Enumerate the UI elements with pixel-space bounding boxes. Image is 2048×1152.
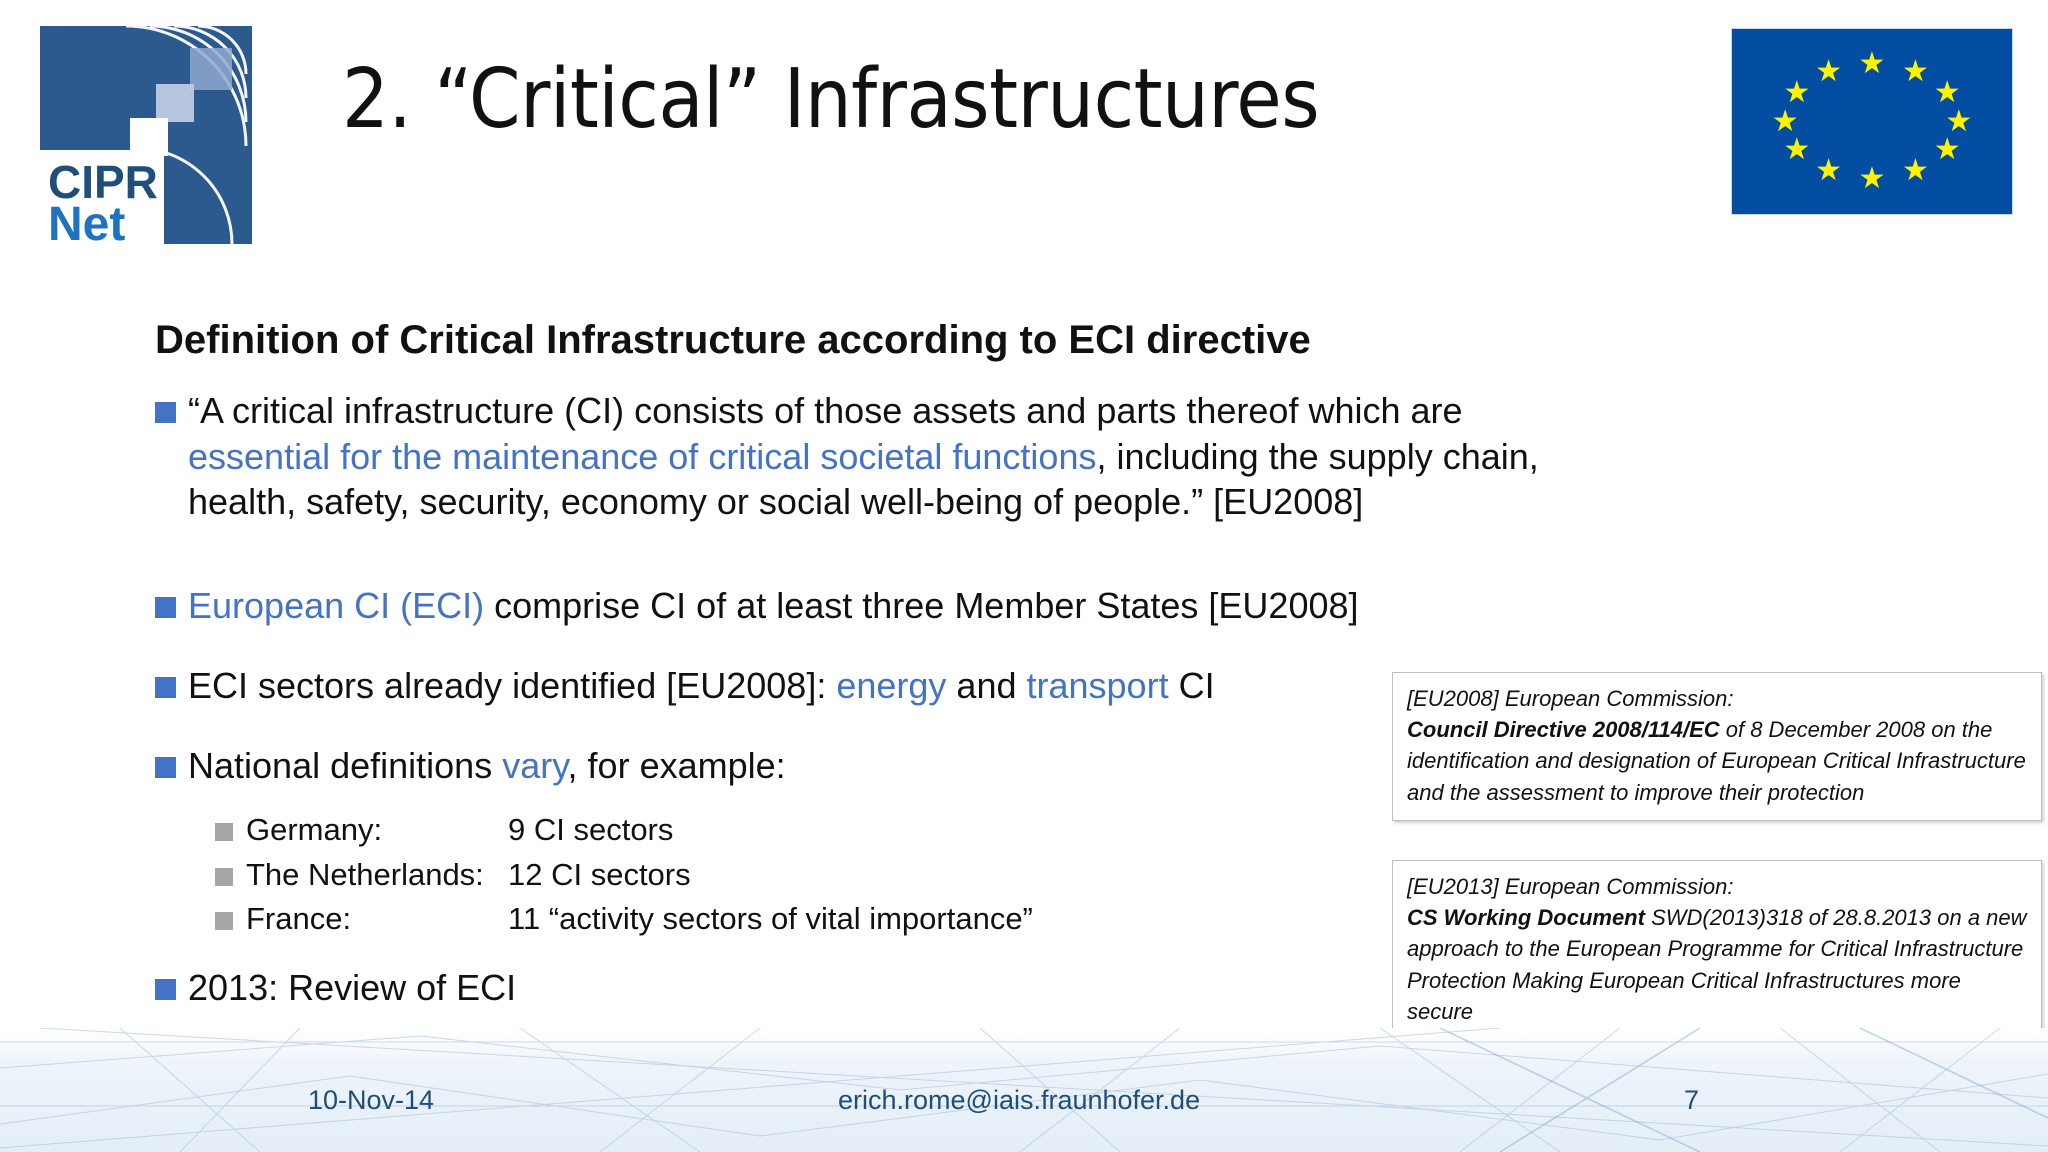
- ciprnet-logo: CIPR Net: [40, 26, 252, 244]
- sub-bullet-square-icon: [215, 868, 233, 886]
- footer-page-number: 7: [1684, 1085, 1699, 1116]
- slide-body: “A critical infrastructure (CI) consists…: [155, 388, 1595, 1011]
- bullet-sectors: ECI sectors already identified [EU2008]:…: [155, 663, 1595, 709]
- slide: CIPR Net ★★★★★★★★★★★★ 2. “Critical” Infr…: [0, 0, 2048, 1152]
- list-item: Germany:9 CI sectors: [215, 810, 1595, 850]
- eu-star-icon: ★: [1859, 49, 1886, 79]
- citation-box-eu2013: [EU2013] European Commission: CS Working…: [1392, 860, 2042, 1040]
- citation-line1: [EU2008] European Commission:: [1407, 686, 1734, 711]
- bullet-eci: European CI (ECI) comprise CI of at leas…: [155, 583, 1595, 629]
- footer-email: erich.rome@iais.fraunhofer.de: [838, 1085, 1200, 1116]
- bullet-national-text: National definitions vary, for example:: [188, 743, 786, 789]
- bullet-review-text: 2013: Review of ECI: [188, 965, 516, 1011]
- eci-highlight: European CI (ECI): [188, 585, 484, 626]
- sectors-part2: CI: [1169, 665, 1215, 706]
- citation-line1: [EU2013] European Commission:: [1407, 874, 1734, 899]
- country-value: 11 “activity sectors of vital importance…: [508, 899, 1033, 939]
- sub-bullet-square-icon: [215, 912, 233, 930]
- bullet-national: National definitions vary, for example:: [155, 743, 1595, 789]
- eu-star-icon: ★: [1859, 164, 1886, 194]
- eu-star-icon: ★: [1815, 57, 1842, 87]
- country-row: Germany:9 CI sectors: [246, 810, 673, 850]
- country-list: Germany:9 CI sectors The Netherlands:12 …: [215, 810, 1595, 939]
- country-value: 12 CI sectors: [508, 855, 691, 895]
- bullet-square-icon: [155, 979, 176, 1000]
- national-part2: , for example:: [568, 745, 786, 786]
- national-part1: National definitions: [188, 745, 502, 786]
- logo-text-net: Net: [48, 198, 125, 244]
- country-name: The Netherlands:: [246, 855, 508, 895]
- eci-rest: comprise CI of at least three Member Sta…: [484, 585, 1358, 626]
- bullet-quote-text: “A critical infrastructure (CI) consists…: [188, 388, 1595, 525]
- country-name: France:: [246, 899, 508, 939]
- eu-star-icon: ★: [1902, 156, 1929, 186]
- section-heading: Definition of Critical Infrastructure ac…: [155, 318, 1311, 363]
- eu-star-icon: ★: [1783, 78, 1810, 108]
- sectors-highlight-transport: transport: [1027, 665, 1169, 706]
- bullet-sectors-text: ECI sectors already identified [EU2008]:…: [188, 663, 1215, 709]
- quote-part1: “A critical infrastructure (CI) consists…: [188, 390, 1463, 431]
- bullet-square-icon: [155, 757, 176, 778]
- country-name: Germany:: [246, 810, 508, 850]
- sectors-part1: ECI sectors already identified [EU2008]:: [188, 665, 836, 706]
- eu-star-icon: ★: [1815, 156, 1842, 186]
- bullet-eci-text: European CI (ECI) comprise CI of at leas…: [188, 583, 1359, 629]
- list-item: The Netherlands:12 CI sectors: [215, 855, 1595, 895]
- eu-star-icon: ★: [1772, 107, 1799, 137]
- country-row: France:11 “activity sectors of vital imp…: [246, 899, 1033, 939]
- bullet-square-icon: [155, 677, 176, 698]
- list-item: France:11 “activity sectors of vital imp…: [215, 899, 1595, 939]
- country-row: The Netherlands:12 CI sectors: [246, 855, 691, 895]
- sub-bullet-square-icon: [215, 823, 233, 841]
- bullet-review: 2013: Review of ECI: [155, 965, 1595, 1011]
- eu-star-icon: ★: [1783, 135, 1810, 165]
- page-title: 2. “Critical” Infrastructures: [342, 52, 1682, 147]
- citation-bold: CS Working Document: [1407, 905, 1645, 930]
- eu-star-icon: ★: [1934, 78, 1961, 108]
- eu-star-icon: ★: [1934, 135, 1961, 165]
- footer-date: 10-Nov-14: [308, 1085, 434, 1116]
- ciprnet-logo-mark: CIPR Net: [40, 26, 252, 244]
- citation-bold: Council Directive 2008/114/EC: [1407, 717, 1720, 742]
- eu-star-icon: ★: [1902, 57, 1929, 87]
- european-union-flag: ★★★★★★★★★★★★: [1731, 28, 2013, 215]
- country-value: 9 CI sectors: [508, 810, 673, 850]
- sectors-mid: and: [946, 665, 1026, 706]
- eu-star-icon: ★: [1945, 107, 1972, 137]
- bullet-quote: “A critical infrastructure (CI) consists…: [155, 388, 1595, 525]
- quote-highlight: essential for the maintenance of critica…: [188, 436, 1096, 477]
- bullet-square-icon: [155, 402, 176, 423]
- bullet-square-icon: [155, 597, 176, 618]
- sectors-highlight-energy: energy: [836, 665, 946, 706]
- citation-box-eu2008: [EU2008] European Commission: Council Di…: [1392, 672, 2042, 821]
- national-highlight: vary: [502, 745, 567, 786]
